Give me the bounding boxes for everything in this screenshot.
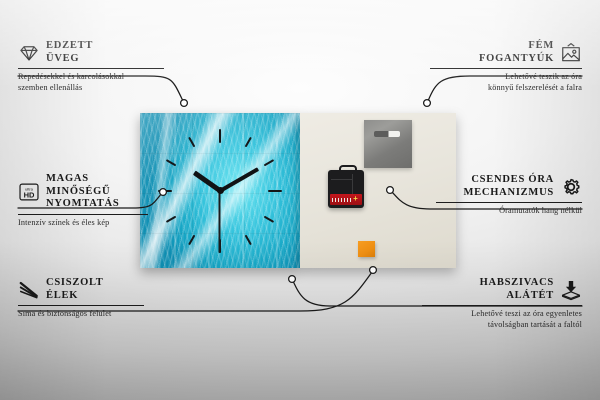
callout-foam-pad[interactable]: HABSZIVACSALÁTÉT Lehetővé teszi az óra e… xyxy=(422,277,582,330)
callout-title: HABSZIVACSALÁTÉT xyxy=(480,277,554,302)
callout-polished-edges[interactable]: CSISZOLTÉLEK Sima és biztonságos felület xyxy=(18,277,144,320)
battery: + xyxy=(330,194,362,205)
metal-hanger-plate xyxy=(364,120,412,168)
hanger-slot xyxy=(374,131,400,137)
callout-title: FÉMFOGANTYÚK xyxy=(479,40,554,65)
foam-spacer-pad xyxy=(358,241,375,257)
callout-subtitle: Intenzív színek és éles kép xyxy=(18,218,148,229)
infographic-canvas: + xyxy=(0,0,600,400)
callout-subtitle: Sima és biztonságos felület xyxy=(18,309,144,320)
clock-front-panel xyxy=(140,113,300,268)
callout-subtitle: Lehetővé teszik az órakönnyű felszerelés… xyxy=(430,72,582,93)
clock-center-cap xyxy=(217,187,224,194)
callout-title: CSENDES ÓRAMECHANIZMUS xyxy=(463,174,554,199)
callout-rule xyxy=(430,68,582,69)
battery-stripes xyxy=(332,198,352,202)
foam-pad-icon xyxy=(560,279,582,301)
callout-rule xyxy=(422,305,582,306)
callout-rule xyxy=(18,305,144,306)
clock-second-hand xyxy=(219,191,221,253)
mechanism-hanging-tab xyxy=(339,165,357,174)
callout-subtitle: Repedésekkel és karcolásokkalszemben ell… xyxy=(18,72,164,93)
callout-head: HABSZIVACSALÁTÉT xyxy=(422,277,582,302)
callout-metal-handles[interactable]: FÉMFOGANTYÚK Lehetővé teszik az órakönny… xyxy=(430,40,582,93)
clock-tick xyxy=(219,129,221,143)
callout-silent-mechanism[interactable]: CSENDES ÓRAMECHANIZMUS Óramutatók hang n… xyxy=(436,174,582,217)
callout-high-quality-print[interactable]: ultra HD MAGAS MINŐSÉGŰNYOMTATÁS Intenzí… xyxy=(18,173,148,228)
callout-subtitle: Óramutatók hang nélkül xyxy=(436,206,582,217)
leader-dot-tempered-glass xyxy=(181,100,188,107)
product-image: + xyxy=(140,113,456,268)
callout-subtitle: Lehetővé teszi az óra egyenletestávolság… xyxy=(422,309,582,330)
polished-edges-icon xyxy=(18,279,40,301)
diamond-icon xyxy=(18,42,40,64)
mechanism-seam xyxy=(331,179,353,180)
callout-head: EDZETTÜVEG xyxy=(18,40,164,65)
leader-dot-metal-handles xyxy=(424,100,431,107)
callout-rule xyxy=(18,214,148,215)
callout-title: CSISZOLTÉLEK xyxy=(46,277,104,302)
clock-tick xyxy=(158,190,172,192)
battery-plus-label: + xyxy=(352,195,359,203)
clock-mechanism-box: + xyxy=(328,170,364,208)
callout-title: MAGAS MINŐSÉGŰNYOMTATÁS xyxy=(46,173,148,211)
mechanism-seam-vertical xyxy=(352,174,353,194)
callout-head: ultra HD MAGAS MINŐSÉGŰNYOMTATÁS xyxy=(18,173,148,211)
callout-rule xyxy=(18,68,164,69)
picture-hanger-icon xyxy=(560,42,582,64)
callout-head: FÉMFOGANTYÚK xyxy=(430,40,582,65)
svg-text:HD: HD xyxy=(24,190,35,199)
gear-icon xyxy=(560,176,582,198)
callout-head: CSISZOLTÉLEK xyxy=(18,277,144,302)
ultra-hd-badge-icon: ultra HD xyxy=(18,181,40,203)
callout-rule xyxy=(436,202,582,203)
callout-title: EDZETTÜVEG xyxy=(46,40,93,65)
leader-dot-foam-pad xyxy=(289,276,296,283)
clock-back-panel: + xyxy=(300,113,456,268)
clock-tick xyxy=(268,190,282,192)
callout-head: CSENDES ÓRAMECHANIZMUS xyxy=(436,174,582,199)
callout-tempered-glass[interactable]: EDZETTÜVEG Repedésekkel és karcolásokkal… xyxy=(18,40,164,93)
